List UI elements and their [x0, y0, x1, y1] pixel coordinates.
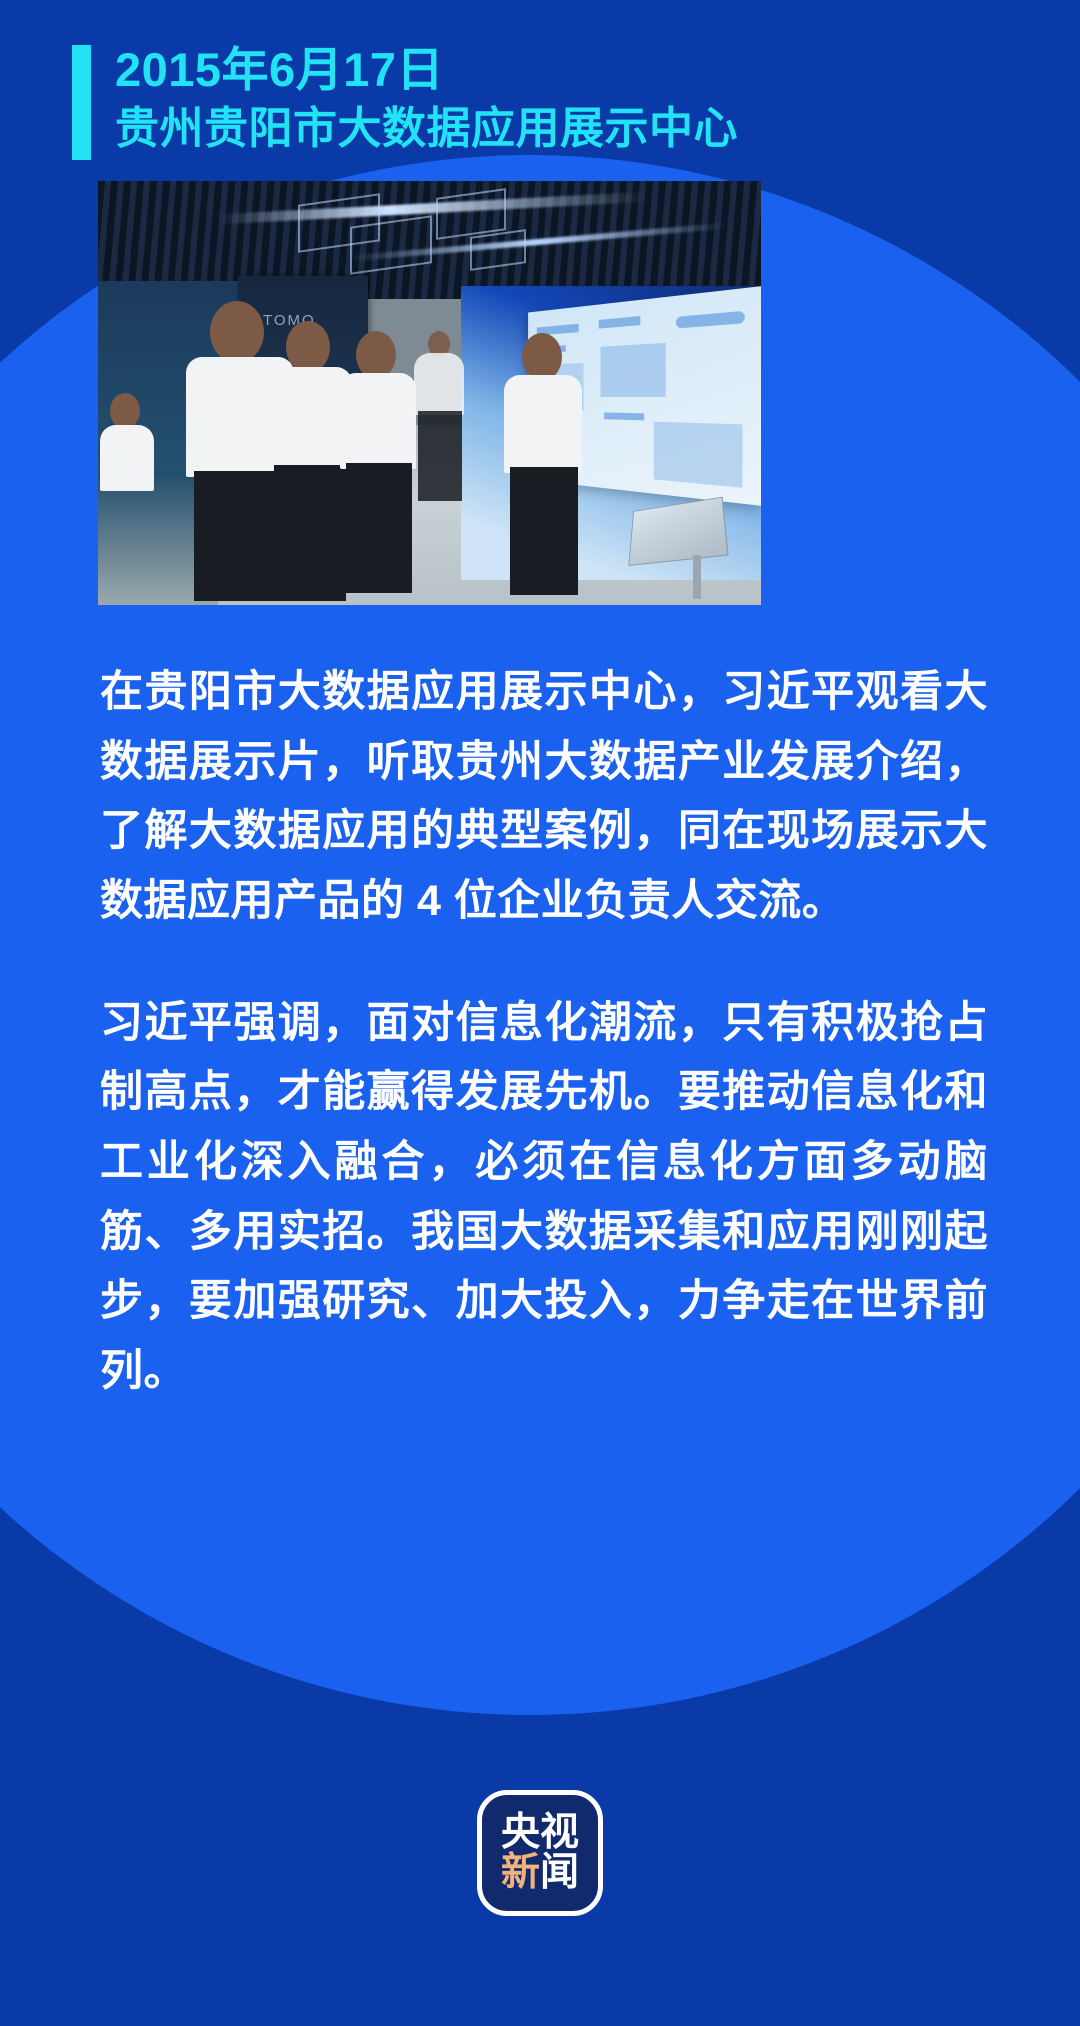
logo-char-yang: 央	[501, 1813, 540, 1853]
poster-header: 2015年6月17日 贵州贵阳市大数据应用展示中心	[72, 42, 738, 160]
photo-scene: TOMO	[98, 181, 761, 605]
header-text-block: 2015年6月17日 贵州贵阳市大数据应用展示中心	[115, 42, 738, 155]
logo-line-1: 央 视	[501, 1813, 579, 1853]
accent-bar-icon	[72, 45, 91, 160]
logo-line-2: 新 闻	[501, 1853, 579, 1893]
article-paragraph-1: 在贵阳市大数据应用展示中心，习近平观看大数据展示片，听取贵州大数据产业发展介绍，…	[100, 658, 988, 937]
news-poster: 2015年6月17日 贵州贵阳市大数据应用展示中心 TOMO	[0, 0, 1080, 2026]
cctv-news-logo: 央 视 新 闻	[477, 1790, 603, 1916]
article-paragraph-2: 习近平强调，面对信息化潮流，只有积极抢占制高点，才能赢得发展先机。要推动信息化和…	[100, 989, 988, 1407]
logo-char-wen: 闻	[540, 1853, 579, 1893]
header-date: 2015年6月17日	[115, 42, 738, 97]
header-location: 贵州贵阳市大数据应用展示中心	[115, 103, 738, 155]
article-body: 在贵阳市大数据应用展示中心，习近平观看大数据展示片，听取贵州大数据产业发展介绍，…	[100, 658, 988, 1407]
photo-laptop-stand	[693, 555, 701, 599]
brand-logo-wrapper: 央 视 新 闻	[0, 1790, 1080, 1916]
logo-char-shi: 视	[540, 1813, 579, 1853]
logo-char-xin: 新	[501, 1853, 540, 1893]
news-photo: TOMO	[98, 181, 761, 605]
